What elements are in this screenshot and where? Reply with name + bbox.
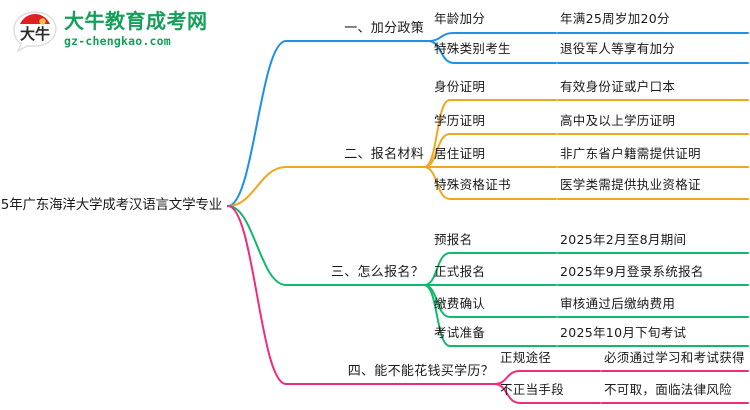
detail-node-1-2[interactable]: 退役军人等享有加分 [560,43,675,56]
detail-node-4-2[interactable]: 不可取，面临法律风险 [604,384,732,397]
detail-node-2-4[interactable]: 医学类需提供执业资格证 [560,179,701,192]
detail-node-3-2[interactable]: 2025年9月登录系统报名 [560,266,704,279]
sub-node-3-1[interactable]: 预报名 [434,234,472,247]
detail-node-3-1[interactable]: 2025年2月至8月期间 [560,234,686,247]
sub-node-3-3[interactable]: 缴费确认 [434,298,485,311]
sub-node-2-3[interactable]: 居住证明 [434,148,485,161]
branch-label-2[interactable]: 二、报名材料 [344,148,424,161]
sub-node-4-2[interactable]: 不正当手段 [500,384,564,397]
detail-node-3-3[interactable]: 审核通过后缴纳费用 [560,298,675,311]
branch-label-1[interactable]: 一、加分政策 [344,22,424,35]
sub-node-3-2[interactable]: 正式报名 [434,266,485,279]
detail-node-3-4[interactable]: 2025年10月下旬考试 [560,327,686,340]
detail-node-2-1[interactable]: 有效身份证或户口本 [560,81,675,94]
mindmap-canvas: 大牛 大牛教育成考网 gz-chengkao.com 2025年广东海洋大学成考… [0,0,750,410]
detail-node-1-1[interactable]: 年满25周岁加20分 [560,13,670,26]
sub-node-1-2[interactable]: 特殊类别考生 [434,43,511,56]
sub-node-4-1[interactable]: 正规途径 [500,352,551,365]
sub-node-2-2[interactable]: 学历证明 [434,115,485,128]
detail-node-2-2[interactable]: 高中及以上学历证明 [560,115,675,128]
sub-node-2-1[interactable]: 身份证明 [434,81,485,94]
branch-label-4[interactable]: 四、能不能花钱买学历？ [348,365,494,378]
root-node[interactable]: 2025年广东海洋大学成考汉语言文学专业 [0,199,222,213]
sub-node-2-4[interactable]: 特殊资格证书 [434,179,511,192]
sub-node-3-4[interactable]: 考试准备 [434,327,485,340]
detail-node-4-1[interactable]: 必须通过学习和考试获得 [604,352,745,365]
sub-node-1-1[interactable]: 年龄加分 [434,13,485,26]
detail-node-2-3[interactable]: 非广东省户籍需提供证明 [560,148,701,161]
branch-label-3[interactable]: 三、怎么报名？ [331,266,424,279]
